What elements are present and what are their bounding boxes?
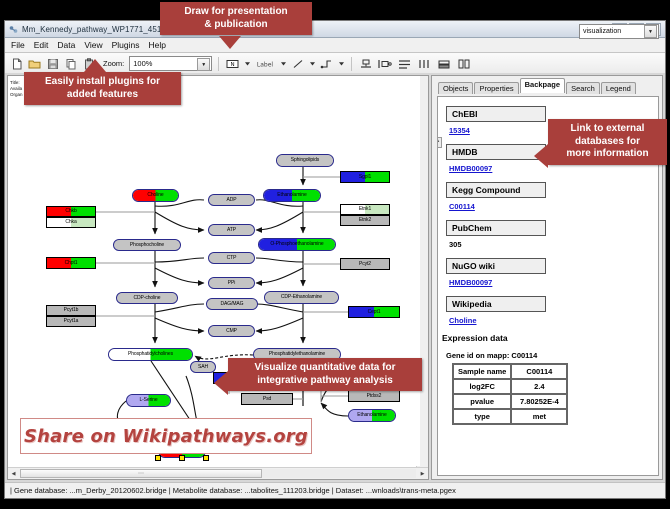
menu-item-data[interactable]: Data <box>57 40 75 50</box>
node-label: Psd <box>263 397 271 402</box>
node-label: Phosphocholine <box>130 243 164 248</box>
node-label: ADP <box>227 198 237 203</box>
node-label: Pcyt1b <box>64 308 79 313</box>
callout-draw-arrow <box>219 36 241 49</box>
gene-id-line: Gene id on mapp: C00114 <box>446 351 658 360</box>
status-bar-text: | Gene database: ...m_Derby_20120602.bri… <box>10 486 456 495</box>
metabolite-node-adp-3[interactable]: ADP <box>208 194 255 206</box>
db-link-nugo[interactable]: HMDB00097 <box>449 278 658 287</box>
side-panel-tabs: Objects Properties Backpage Search Legen… <box>432 79 662 93</box>
metabolite-node-cdp-ethanolamine-10[interactable]: CDP-Ethanolamine <box>264 291 339 304</box>
share-banner: Share on Wikipathways.org <box>20 418 312 454</box>
node-label: DAG/MAG <box>221 302 244 307</box>
db-block-pubchem: PubChem 305 <box>446 218 658 249</box>
node-label: Phosphatidylethanolamine <box>269 352 325 357</box>
gene-node-ptdss2-12[interactable]: Ptdss2 <box>348 390 400 402</box>
tab-properties[interactable]: Properties <box>474 82 518 94</box>
callout-visualize: Visualize quantitative data for integrat… <box>228 358 422 391</box>
tab-legend[interactable]: Legend <box>601 82 636 94</box>
callout-visualize-arrow <box>214 371 228 395</box>
gene-node-pcyt2-8[interactable]: Pcyt2 <box>340 258 390 270</box>
node-label: Ptdss2 <box>367 394 382 399</box>
table-row: pvalue 7.80252E-4 <box>453 394 567 409</box>
table-row: log2FC 2.4 <box>453 379 567 394</box>
callout-draw: Draw for presentation & publication <box>160 2 312 35</box>
table-row: Sample name C00114 <box>453 364 567 379</box>
cell-value-pvalue: 7.80252E-4 <box>511 394 567 409</box>
gene-node-sgpl1-5[interactable]: Sgpl1 <box>340 171 390 183</box>
callout-plugins-arrow <box>84 59 106 72</box>
zoom-combobox[interactable]: 100% ▼ <box>129 56 212 71</box>
cell-value-log2fc: 2.4 <box>511 379 567 394</box>
node-label: CMP <box>226 329 237 334</box>
datanode-dropdown-icon[interactable] <box>243 56 251 71</box>
node-label: L-Serine <box>139 398 157 403</box>
cell-label-type: type <box>453 409 511 424</box>
node-label: ATP <box>227 228 236 233</box>
gene-node-chka-1[interactable]: Chka <box>46 217 96 228</box>
node-label: Ethanolamine <box>357 413 386 418</box>
gene-node-pcyt1a-3[interactable]: Pcyt1a <box>46 316 96 327</box>
menu-item-plugins[interactable]: Plugins <box>112 40 140 50</box>
expression-data-heading: Expression data <box>442 333 658 343</box>
metabolite-node-cdp-choline-9[interactable]: CDP-choline <box>116 292 178 304</box>
db-name-pubchem: PubChem <box>446 220 546 236</box>
chevron-down-icon[interactable]: ▼ <box>197 58 210 71</box>
metabolite-node-cmp-12[interactable]: CMP <box>208 325 255 337</box>
node-label: Chpt1 <box>65 261 78 266</box>
panel-scroll-button[interactable]: ▴ <box>437 137 442 148</box>
node-label: CTP <box>227 256 237 261</box>
share-banner-text: Share on Wikipathways.org <box>24 426 308 447</box>
cell-label-log2fc: log2FC <box>453 379 511 394</box>
metabolite-node-choline-1[interactable]: Choline <box>132 189 179 202</box>
zoom-label: Zoom: <box>103 59 124 68</box>
node-label: Pcyt1a <box>64 319 79 324</box>
tab-backpage[interactable]: Backpage <box>520 78 565 93</box>
connector-icon[interactable] <box>319 56 334 71</box>
new-icon[interactable] <box>9 56 24 71</box>
align-top-icon[interactable] <box>358 56 373 71</box>
db-block-kegg: Kegg Compound C00114 <box>446 180 658 211</box>
metabolite-node-ethanolamine-19[interactable]: Ethanolamine <box>348 409 396 422</box>
menu-item-edit[interactable]: Edit <box>34 40 49 50</box>
same-height-icon[interactable] <box>456 56 473 71</box>
chevron-down-icon-visualization[interactable]: ▼ <box>644 25 657 38</box>
node-label: Sphingolipids <box>291 158 319 163</box>
gene-node-pcyt1b-2[interactable]: Pcyt1b <box>46 305 96 316</box>
gene-node-etnk1-6[interactable]: Etnk1 <box>340 204 390 215</box>
db-name-hmdb: HMDB <box>446 144 546 160</box>
node-label: CDP-Ethanolamine <box>281 295 322 300</box>
line-dropdown-icon[interactable] <box>308 56 316 71</box>
pathway-info-labels: Title: Availa Organ <box>10 80 23 98</box>
toolbar-separator-2 <box>351 57 352 71</box>
distribute-horizontal-icon[interactable] <box>416 56 433 71</box>
cell-value-sample: C00114 <box>511 364 567 379</box>
node-label: Pcyt2 <box>359 262 371 267</box>
cell-value-type: met <box>511 409 567 424</box>
node-label: O-Phosphoethanolamine <box>270 242 323 247</box>
node-label: Phosphatidylcholines <box>128 352 173 357</box>
node-label: Ethanolamine <box>277 193 306 198</box>
node-label: Choline <box>147 193 163 198</box>
node-label: PPi <box>228 281 235 286</box>
zoom-value: 100% <box>133 59 152 68</box>
metabolite-node-ctp-7[interactable]: CTP <box>208 252 255 264</box>
datanode-icon[interactable]: N <box>225 56 240 71</box>
gene-node-chpt1-4[interactable]: Chpt1 <box>46 257 96 269</box>
node-label: SAH <box>198 365 208 370</box>
selection-handle[interactable] <box>155 455 161 461</box>
cell-label-pvalue: pvalue <box>453 394 511 409</box>
callout-links-line2: databases for <box>555 136 660 149</box>
open-icon[interactable] <box>27 56 42 71</box>
info-organism: Organ <box>10 92 23 98</box>
gene-node-etnk2-7[interactable]: Etnk2 <box>340 215 390 226</box>
callout-links-line1: Link to external <box>555 123 660 136</box>
selection-handle[interactable] <box>179 455 185 461</box>
metabolite-node-ppi-8[interactable]: PPi <box>208 277 255 289</box>
toolbar-separator <box>218 57 219 71</box>
selection-handle[interactable] <box>203 455 209 461</box>
gene-node-chkb-0[interactable]: Chkb <box>46 206 96 217</box>
svg-text:Label: Label <box>257 61 274 68</box>
callout-plugins-line1: Easily install plugins for <box>31 76 174 89</box>
callout-visualize-line2: integrative pathway analysis <box>235 375 415 388</box>
menu-item-help[interactable]: Help <box>149 40 166 50</box>
node-label: Cept1 <box>368 310 381 315</box>
metabolite-node-dag-mag-11[interactable]: DAG/MAG <box>206 298 258 310</box>
node-label: Etnk2 <box>359 218 371 223</box>
title-bar: Mm_Kennedy_pathway_WP1771_45176.gpml – □… <box>5 21 665 38</box>
node-label: Sgpl1 <box>359 175 371 180</box>
node-label: Chka <box>65 220 76 225</box>
visualization-value: visualization <box>583 28 621 35</box>
pathvisio-app-icon <box>9 25 18 34</box>
menu-item-file[interactable]: File <box>11 40 25 50</box>
db-link-hmdb[interactable]: HMDB00097 <box>449 164 658 173</box>
db-name-nugo: NuGO wiki <box>446 258 546 274</box>
callout-links-arrow <box>534 144 548 168</box>
metabolite-node-o-phosphoethanolamine-6[interactable]: O-Phosphoethanolamine <box>258 238 336 251</box>
metabolite-node-phosphatidylcholines-13[interactable]: Phosphatidylcholines <box>108 348 193 361</box>
table-row: type met <box>453 409 567 424</box>
same-width-icon[interactable] <box>436 56 453 71</box>
db-value-pubchem: 305 <box>449 240 658 249</box>
menu-bar: File Edit Data View Plugins Help <box>5 38 665 53</box>
save-icon[interactable] <box>45 56 60 71</box>
callout-plugins-line2: added features <box>31 89 174 102</box>
db-link-kegg[interactable]: C00114 <box>449 202 658 211</box>
callout-draw-line1: Draw for presentation <box>167 6 305 19</box>
status-bar: | Gene database: ...m_Derby_20120602.bri… <box>5 482 665 498</box>
callout-plugins: Easily install plugins for added feature… <box>24 72 181 105</box>
node-label: Chkb <box>65 209 76 214</box>
callout-links: Link to external databases for more info… <box>548 119 667 165</box>
metabolite-node-atp-4[interactable]: ATP <box>208 224 255 236</box>
svg-text:N: N <box>231 62 235 68</box>
metabolite-node-phosphocholine-5[interactable]: Phosphocholine <box>113 239 181 251</box>
db-name-wikipedia: Wikipedia <box>446 296 546 312</box>
db-block-nugo: NuGO wiki HMDB00097 <box>446 256 658 287</box>
db-name-chebi: ChEBI <box>446 106 546 122</box>
tab-objects[interactable]: Objects <box>438 82 473 94</box>
node-label: Etnk1 <box>359 207 371 212</box>
db-name-kegg: Kegg Compound <box>446 182 546 198</box>
gene-node-cept1-9[interactable]: Cept1 <box>348 306 400 318</box>
callout-links-line3: more information <box>555 148 660 161</box>
label-icon[interactable]: Label <box>254 56 276 71</box>
db-block-wikipedia: Wikipedia Choline <box>446 294 658 325</box>
connector-dropdown-icon[interactable] <box>337 56 345 71</box>
db-link-wikipedia[interactable]: Choline <box>449 316 658 325</box>
line-icon[interactable] <box>290 56 305 71</box>
callout-draw-line2: & publication <box>167 19 305 32</box>
metabolite-node-sphingolipids-0[interactable]: Sphingolipids <box>276 154 334 167</box>
callout-visualize-line1: Visualize quantitative data for <box>235 362 415 375</box>
tab-search[interactable]: Search <box>566 82 600 94</box>
align-left-icon[interactable] <box>376 56 393 71</box>
metabolite-node-l-serine-18[interactable]: L-Serine <box>126 394 171 407</box>
menu-item-view[interactable]: View <box>84 40 102 50</box>
node-label: CDP-choline <box>134 296 161 301</box>
copy-icon[interactable] <box>63 56 78 71</box>
gene-node-psd-11[interactable]: Psd <box>241 393 293 405</box>
metabolite-node-ethanolamine-2[interactable]: Ethanolamine <box>263 189 321 202</box>
expression-table: Sample name C00114 log2FC 2.4 pvalue 7.8… <box>452 363 568 425</box>
cell-label-sample: Sample name <box>453 364 511 379</box>
label-dropdown-icon[interactable] <box>279 56 287 71</box>
visualization-combobox[interactable]: visualization ▼ <box>579 24 659 39</box>
distribute-vertical-icon[interactable] <box>396 56 413 71</box>
